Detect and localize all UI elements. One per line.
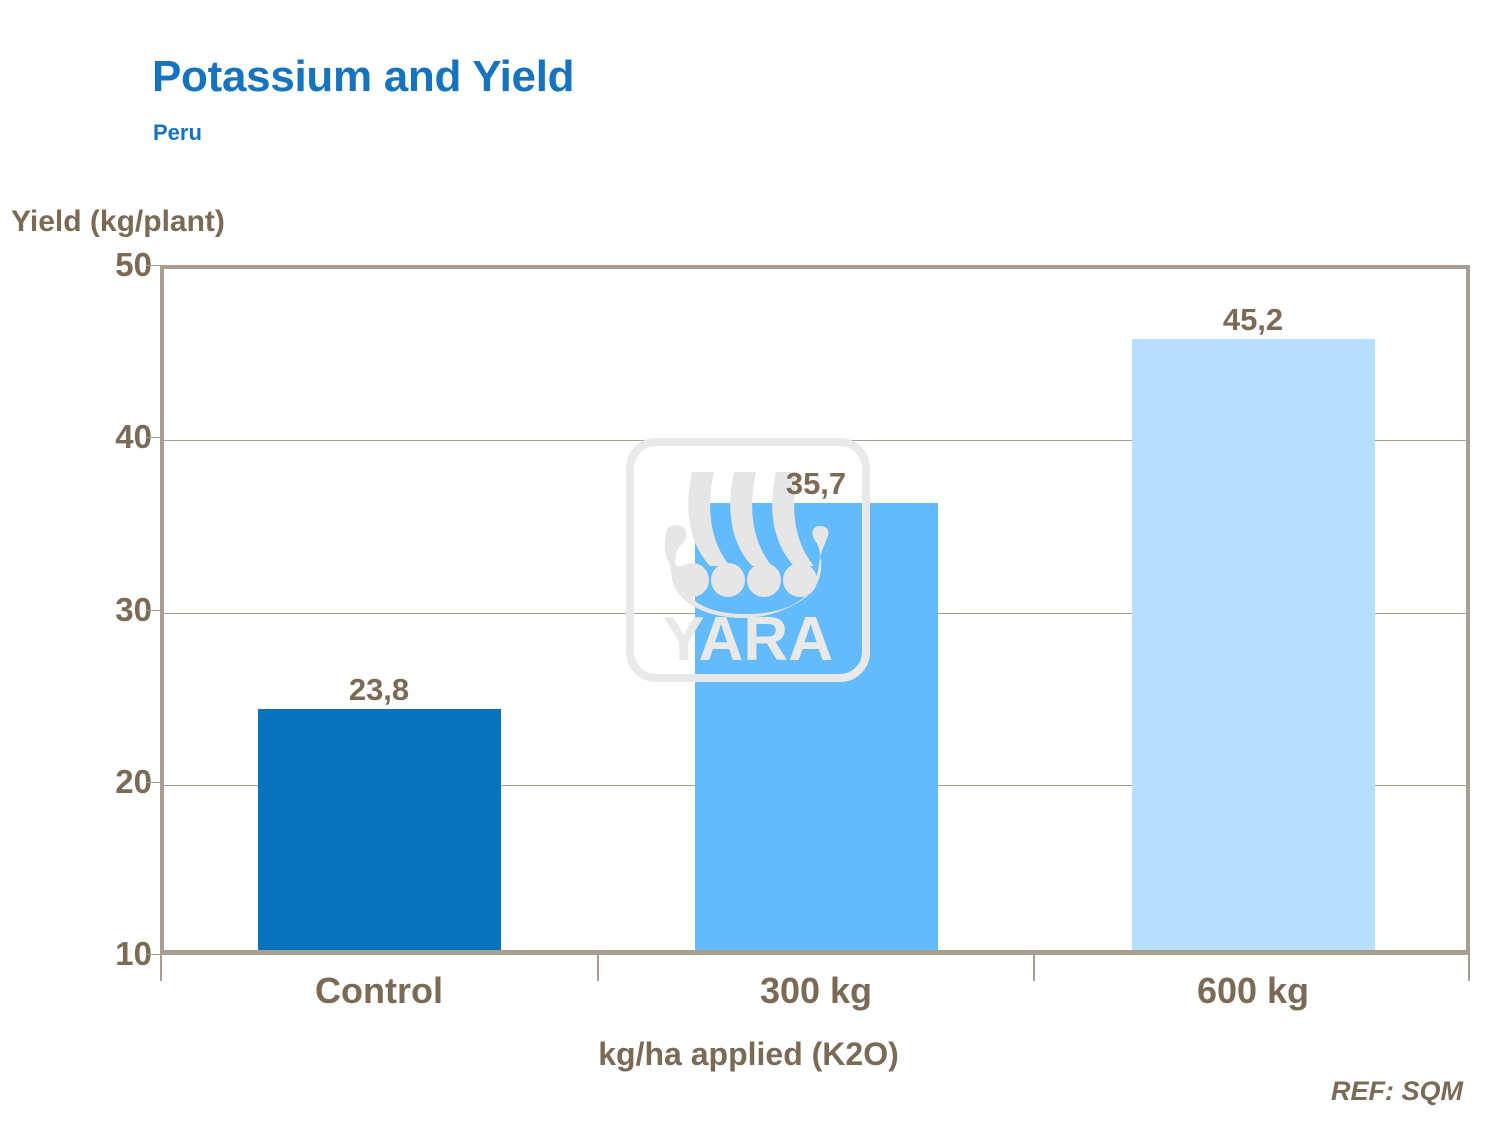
plot-area [160,265,1470,955]
bar-300-kg[interactable] [695,503,938,950]
y-tick-label-40: 40 [32,418,152,456]
x-cat-label-control: Control [315,970,443,1012]
reference-note: REF: SQM [1331,1076,1463,1107]
x-axis-title: kg/ha applied (K2O) [0,1036,1497,1073]
chart-subtitle: Peru [153,120,202,146]
y-tick-mark-20 [146,782,160,783]
y-tick-label-10: 10 [32,935,152,973]
x-cat-label-600-kg: 600 kg [1197,970,1309,1012]
bar-600-kg[interactable] [1132,339,1375,950]
y-tick-mark-10 [146,954,160,955]
x-tick-1 [597,955,599,981]
y-tick-label-20: 20 [32,763,152,801]
x-tick-end [1468,955,1470,981]
y-tick-mark-40 [146,437,160,438]
bar-value-600-kg: 45,2 [1223,302,1283,338]
y-axis-title: Yield (kg/plant) [11,205,225,239]
y-tick-label-30: 30 [32,591,152,629]
y-tick-mark-50 [146,265,160,266]
x-tick-start [160,955,162,981]
bar-value-300-kg: 35,7 [786,466,846,502]
x-cat-label-300-kg: 300 kg [760,970,872,1012]
chart-title: Potassium and Yield [152,52,574,102]
bar-value-control: 23,8 [349,672,409,708]
y-tick-label-50: 50 [32,246,152,284]
bar-control[interactable] [258,709,501,950]
y-tick-mark-30 [146,610,160,611]
x-tick-2 [1033,955,1035,981]
